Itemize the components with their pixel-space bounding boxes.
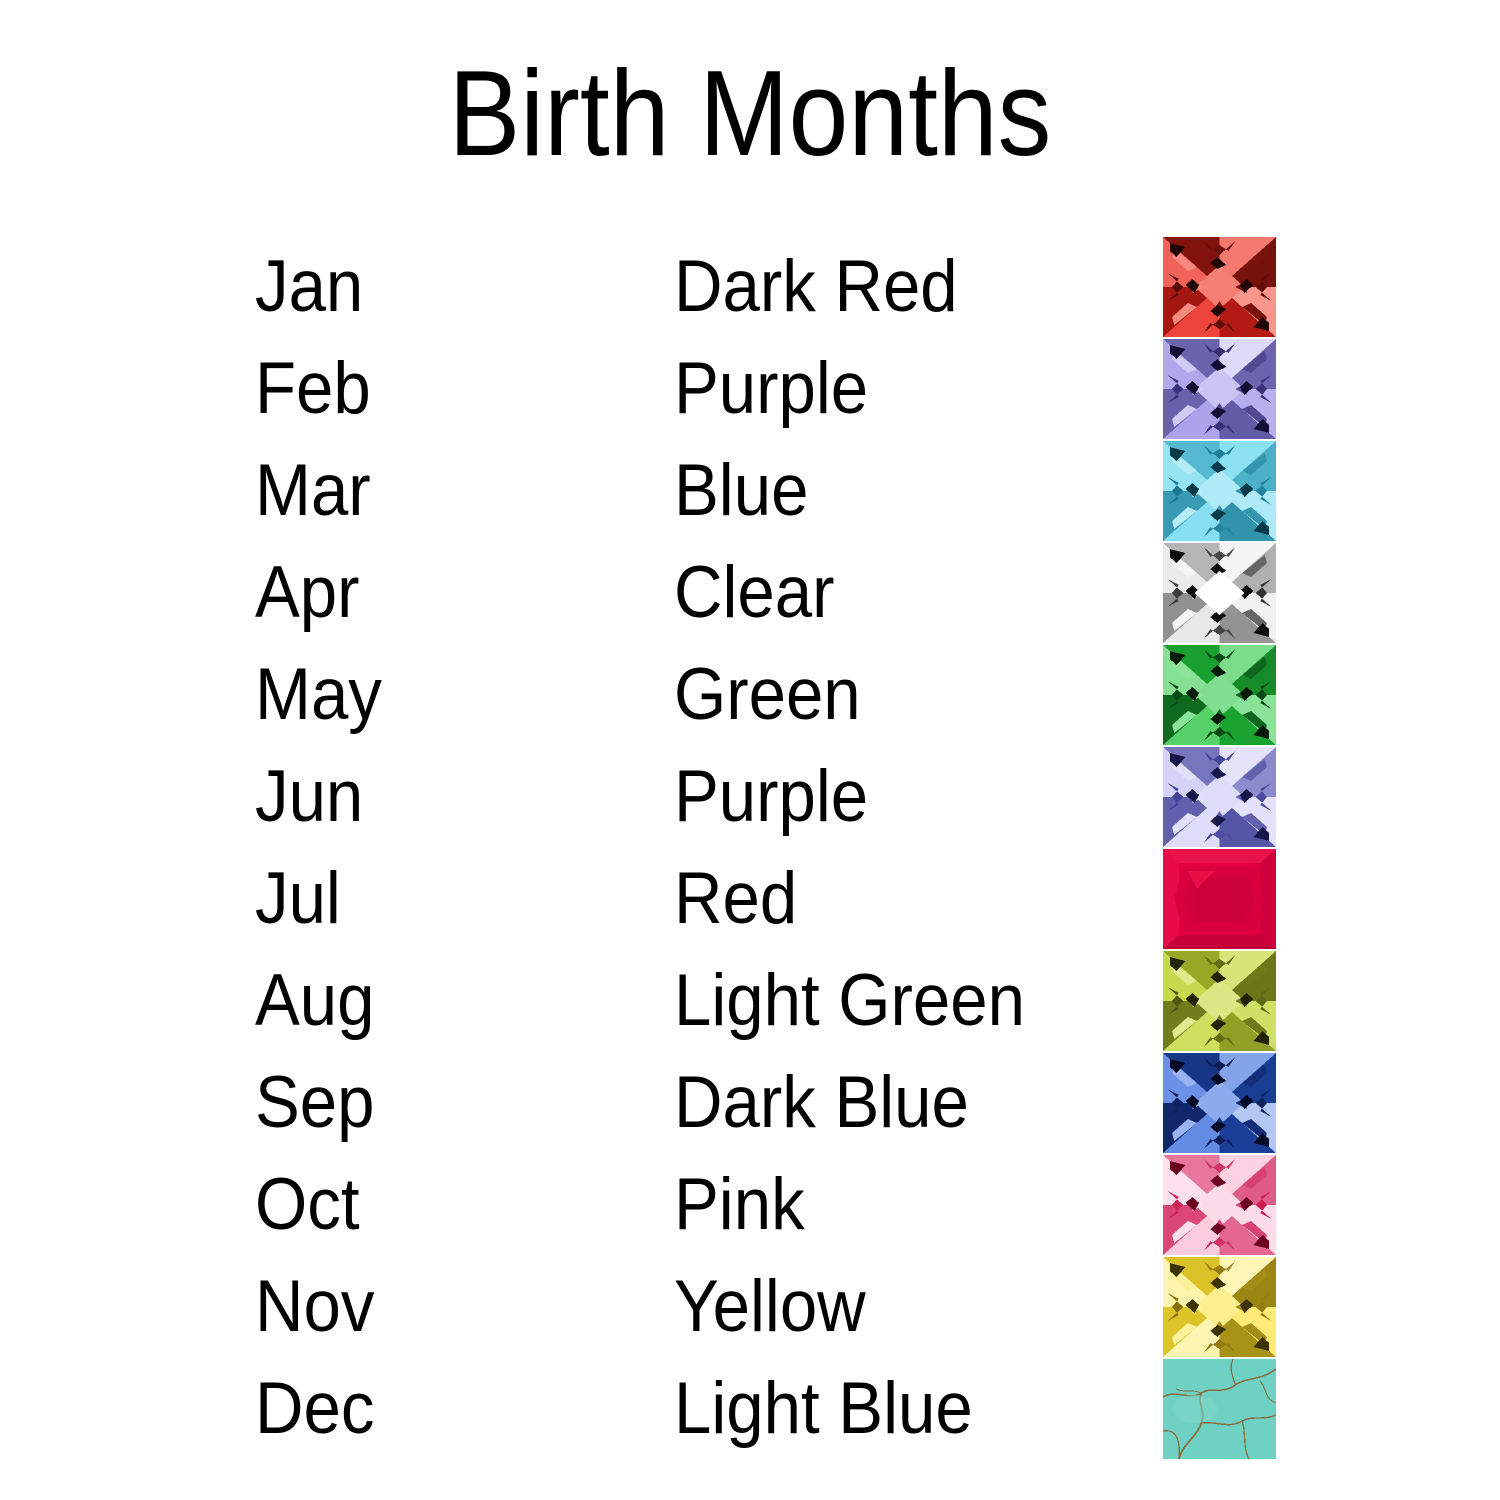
table-row: FebPurple	[0, 338, 1500, 440]
birthstone-aquamarine-image	[1163, 441, 1276, 541]
month-label: Apr	[255, 542, 360, 644]
birthstone-sapphire-image	[1163, 1053, 1276, 1153]
birth-months-page: Birth Months JanDark RedFebPurpleMarBlue…	[0, 0, 1500, 1500]
month-label: Aug	[255, 950, 374, 1052]
birthstone-ruby-image	[1163, 849, 1276, 949]
color-label: Red	[674, 848, 797, 950]
color-label: Light Green	[674, 950, 1025, 1052]
table-row: AugLight Green	[0, 950, 1500, 1052]
birthstone-turquoise-image	[1163, 1359, 1276, 1459]
month-label: Nov	[255, 1256, 374, 1358]
month-label: Jan	[255, 236, 363, 338]
table-row: SepDark Blue	[0, 1052, 1500, 1154]
birthstone-garnet-image	[1163, 237, 1276, 337]
month-label: May	[255, 644, 382, 746]
table-row: JunPurple	[0, 746, 1500, 848]
color-label: Pink	[674, 1154, 805, 1256]
table-row: JanDark Red	[0, 236, 1500, 338]
table-row: NovYellow	[0, 1256, 1500, 1358]
birthstone-diamond-image	[1163, 543, 1276, 643]
color-label: Green	[674, 644, 861, 746]
month-label: Feb	[255, 338, 371, 440]
month-label: Dec	[255, 1358, 374, 1460]
color-label: Yellow	[674, 1256, 866, 1358]
color-label: Dark Red	[674, 236, 958, 338]
color-label: Blue	[674, 440, 808, 542]
birthstone-citrine-image	[1163, 1257, 1276, 1357]
birthstone-amethyst-image	[1163, 339, 1276, 439]
color-label: Purple	[674, 338, 868, 440]
table-row: DecLight Blue	[0, 1358, 1500, 1460]
table-row: AprClear	[0, 542, 1500, 644]
birthstone-emerald-image	[1163, 645, 1276, 745]
table-row: MayGreen	[0, 644, 1500, 746]
month-label: Jun	[255, 746, 363, 848]
month-label: Mar	[255, 440, 371, 542]
color-label: Light Blue	[674, 1358, 973, 1460]
page-title: Birth Months	[90, 52, 1410, 174]
color-label: Dark Blue	[674, 1052, 969, 1154]
birthstone-peridot-image	[1163, 951, 1276, 1051]
color-label: Purple	[674, 746, 868, 848]
month-label: Oct	[255, 1154, 359, 1256]
month-label: Sep	[255, 1052, 374, 1154]
birth-months-table: JanDark RedFebPurpleMarBlueAprClearMayGr…	[0, 236, 1500, 1460]
table-row: MarBlue	[0, 440, 1500, 542]
table-row: OctPink	[0, 1154, 1500, 1256]
birthstone-alexandrite-image	[1163, 747, 1276, 847]
color-label: Clear	[674, 542, 834, 644]
month-label: Jul	[255, 848, 341, 950]
birthstone-pink-tourmaline-image	[1163, 1155, 1276, 1255]
table-row: JulRed	[0, 848, 1500, 950]
